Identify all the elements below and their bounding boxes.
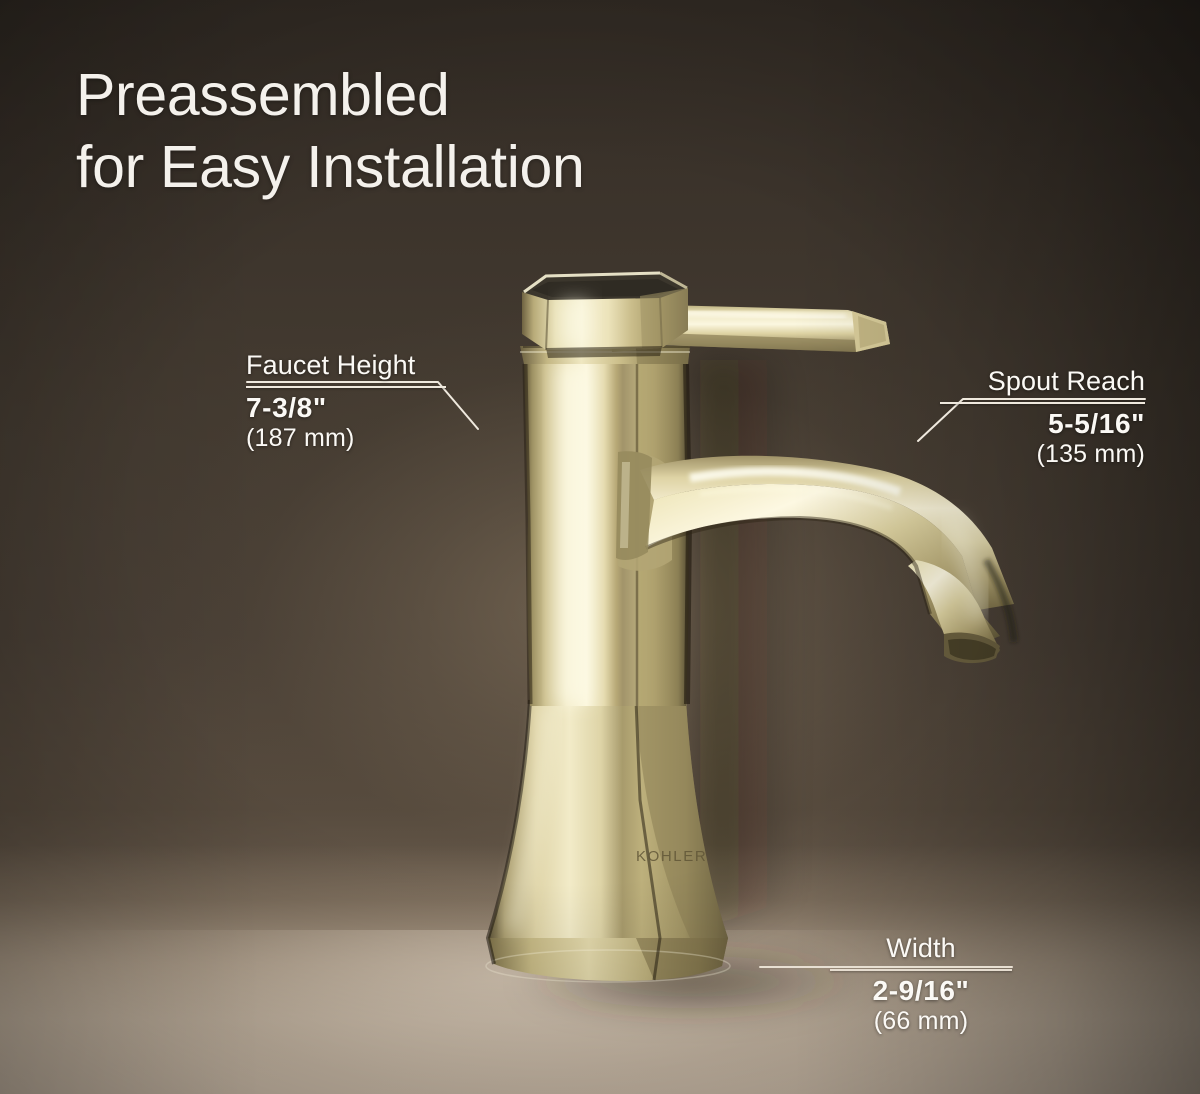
callout-spout-reach-metric: (135 mm)	[940, 440, 1145, 469]
infographic-canvas: KOHLER	[0, 0, 1200, 1094]
callout-width: Width 2-9/16" (66 mm)	[830, 933, 1012, 1036]
callout-width-imperial: 2-9/16"	[830, 975, 1012, 1007]
callout-width-rule	[830, 969, 1012, 971]
callout-faucet-height-title: Faucet Height	[246, 350, 446, 381]
callout-faucet-height-imperial: 7-3/8"	[246, 392, 446, 424]
callout-spout-reach: Spout Reach 5-5/16" (135 mm)	[940, 366, 1145, 469]
callout-faucet-height-metric: (187 mm)	[246, 424, 446, 453]
callout-spout-reach-rule	[940, 402, 1145, 404]
callout-width-title: Width	[830, 933, 1012, 964]
callout-spout-reach-imperial: 5-5/16"	[940, 408, 1145, 440]
headline-title: Preassembled for Easy Installation	[76, 60, 585, 204]
callout-faucet-height: Faucet Height 7-3/8" (187 mm)	[246, 350, 446, 453]
callout-width-metric: (66 mm)	[830, 1007, 1012, 1036]
callout-faucet-height-rule	[246, 386, 446, 388]
callout-spout-reach-title: Spout Reach	[940, 366, 1145, 397]
